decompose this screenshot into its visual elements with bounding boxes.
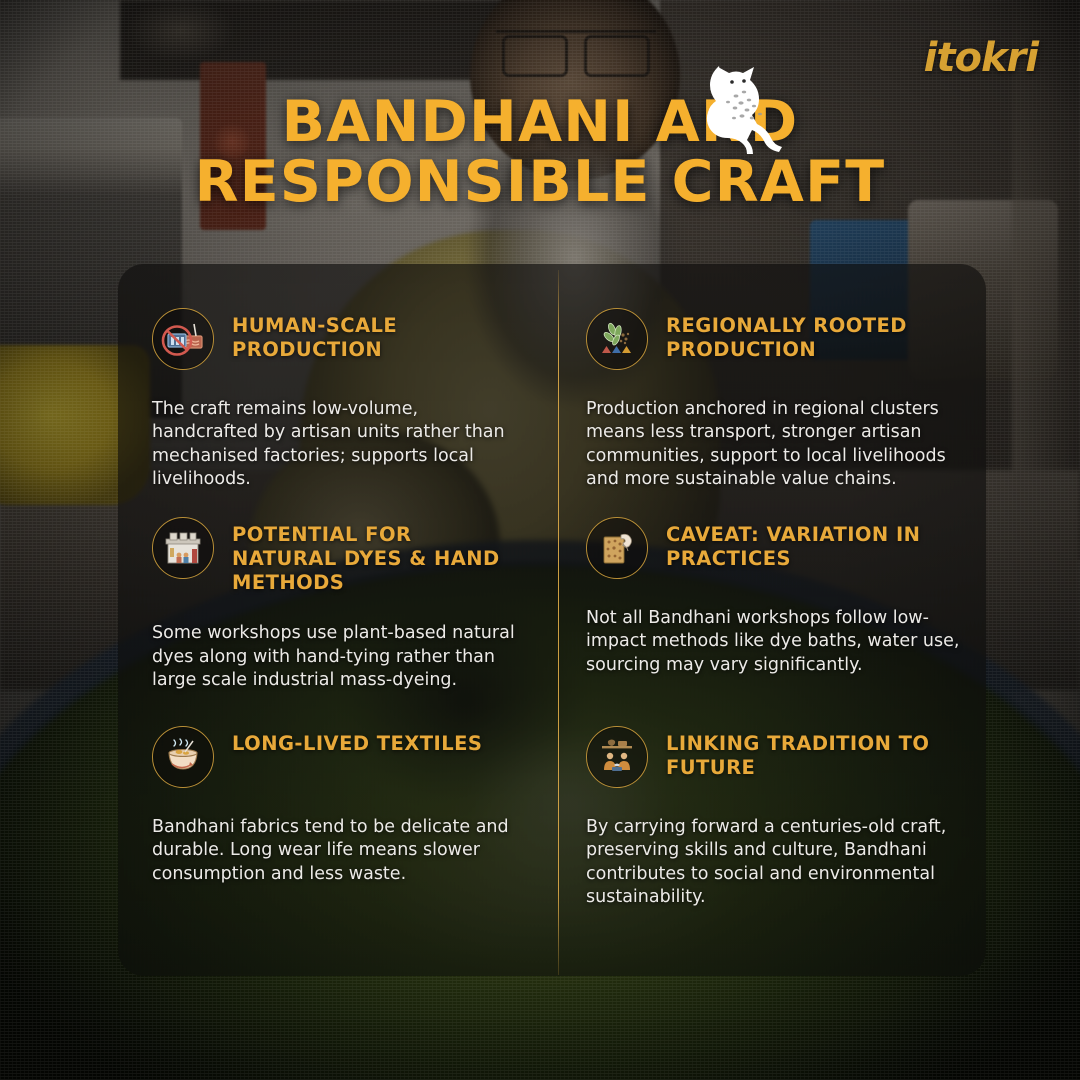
brand-logo[interactable]: itokri <box>924 38 1038 78</box>
feature-title: REGIONALLY ROOTED PRODUCTION <box>666 308 946 362</box>
feature-title: LONG-LIVED TEXTILES <box>232 726 482 756</box>
feature-body: Bandhani fabrics tend to be delicate and… <box>152 816 522 886</box>
title-line-1: BANDHANI AND <box>195 92 886 152</box>
feature-item-human-scale-production: HUMAN-SCALE PRODUCTION The craft remains… <box>118 308 558 517</box>
feature-body: By carrying forward a centuries-old craf… <box>586 816 966 909</box>
page-title: BANDHANI AND RESPONSIBLE CRAFT <box>0 92 1080 213</box>
steaming-dye-pot-icon <box>152 726 214 788</box>
feature-body: The craft remains low-volume, handcrafte… <box>152 398 522 491</box>
feature-item-long-lived-textiles: LONG-LIVED TEXTILES Bandhani fabrics ten… <box>118 726 558 935</box>
two-artisans-icon <box>586 726 648 788</box>
feature-body: Not all Bandhani workshops follow low-im… <box>586 607 966 677</box>
feature-item-natural-dyes-hand-methods: POTENTIAL FOR NATURAL DYES & HAND METHOD… <box>118 517 558 726</box>
feature-item-caveat-variation-in-practices: CAVEAT: VARIATION IN PRACTICES Not all B… <box>558 517 986 726</box>
feature-grid: HUMAN-SCALE PRODUCTION The craft remains… <box>118 264 986 976</box>
infographic-poster: itokri BANDHANI AND RESPONSIBLE CRAFT <box>0 0 1080 1080</box>
workshop-building-icon <box>152 517 214 579</box>
title-line-2: RESPONSIBLE CRAFT <box>195 152 886 212</box>
feature-title: POTENTIAL FOR NATURAL DYES & HAND METHOD… <box>232 517 522 594</box>
leaves-and-pigments-icon <box>586 308 648 370</box>
feature-title: CAVEAT: VARIATION IN PRACTICES <box>666 517 946 571</box>
no-factory-icon <box>152 308 214 370</box>
feature-item-linking-tradition-to-future: LINKING TRADITION TO FUTURE By carrying … <box>558 726 986 935</box>
feature-body: Some workshops use plant-based natural d… <box>152 622 522 692</box>
hand-holding-fabric-icon <box>586 517 648 579</box>
feature-title: LINKING TRADITION TO FUTURE <box>666 726 946 780</box>
feature-body: Production anchored in regional clusters… <box>586 398 966 491</box>
feature-title: HUMAN-SCALE PRODUCTION <box>232 308 522 362</box>
feature-item-regionally-rooted-production: REGIONALLY ROOTED PRODUCTION Production … <box>558 308 986 517</box>
